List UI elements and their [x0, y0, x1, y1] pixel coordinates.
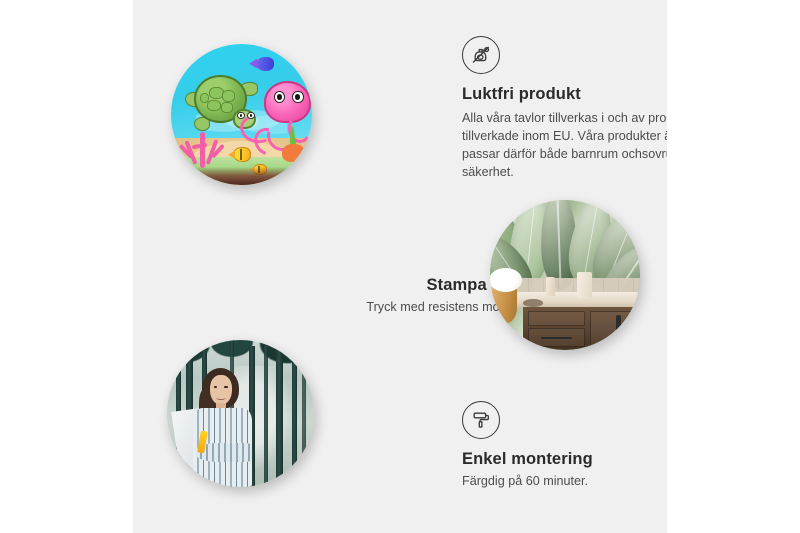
feature-odourless: Luktfri produkt Alla våra tavlor tillver… — [462, 36, 667, 182]
feature-description: Alla våra tavlor tillverkas i och av pro… — [462, 109, 667, 182]
woman-in-forest-circle — [167, 340, 314, 487]
paint-roller-icon — [462, 401, 500, 439]
feature-mounting: Enkel montering Färgdig på 60 minuter. — [462, 401, 667, 490]
feature-description: Färgdig på 60 minuter. — [462, 472, 667, 490]
content-canvas: Luktfri produkt Alla våra tavlor tillver… — [133, 0, 667, 533]
feature-title: Enkel montering — [462, 450, 667, 469]
coral-decoration — [182, 126, 224, 168]
feature-title: Luktfri produkt — [462, 85, 667, 104]
no-scent-perfume-bottle-icon — [462, 36, 500, 74]
underwater-children-artwork-circle — [171, 44, 312, 185]
bathroom-botanical-mural-circle — [490, 200, 640, 350]
screenshot-root: Luktfri produkt Alla våra tavlor tillver… — [0, 0, 800, 533]
